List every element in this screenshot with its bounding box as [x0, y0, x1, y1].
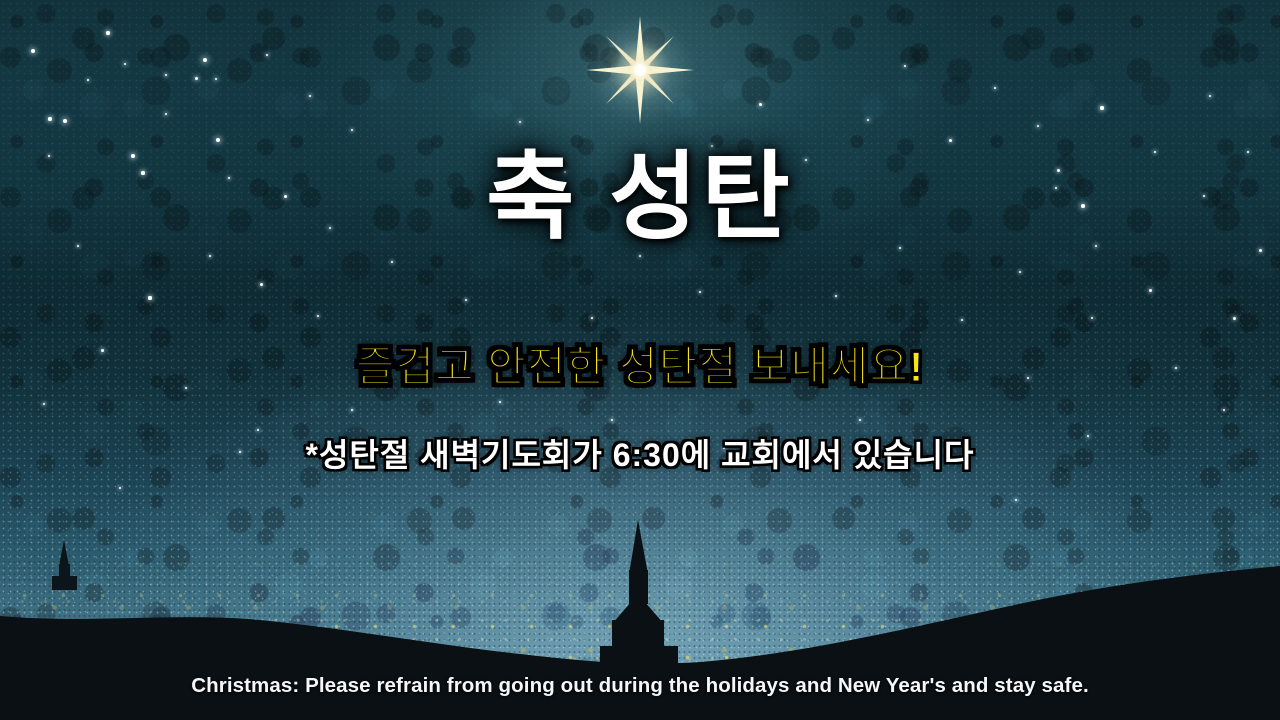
- church-steeple-silhouette: [600, 520, 678, 672]
- star-dot: [119, 487, 121, 489]
- star-dot: [639, 255, 641, 257]
- star-dot: [994, 87, 997, 90]
- distant-steeple-silhouette: [52, 540, 77, 590]
- star-dot: [904, 65, 907, 68]
- star-dot: [165, 74, 168, 77]
- star-dot: [759, 103, 762, 106]
- star-dot: [215, 78, 218, 81]
- star-dot: [591, 317, 594, 320]
- christmas-slide: 축 성탄 즐겁고 안전한 성탄절 보내세요! *성탄절 새벽기도회가 6:30에…: [0, 0, 1280, 720]
- star-dot: [391, 261, 394, 264]
- star-dot: [87, 79, 89, 81]
- star-dot: [260, 283, 263, 286]
- star-dot: [216, 138, 220, 142]
- star-dot: [351, 129, 353, 131]
- star-dot: [106, 31, 109, 34]
- star-dot: [43, 403, 46, 406]
- star-dot: [148, 296, 151, 299]
- star-dot: [48, 117, 51, 120]
- star-dot: [1091, 317, 1094, 320]
- star-dot: [1223, 409, 1225, 411]
- star-dot: [31, 49, 35, 53]
- star-dot: [266, 54, 269, 57]
- star-dot: [1015, 499, 1018, 502]
- star-dot: [499, 401, 501, 403]
- star-dot: [63, 119, 67, 123]
- star-dot: [835, 295, 837, 297]
- star-dot: [1259, 249, 1262, 252]
- star-dot: [351, 409, 354, 412]
- star-dot: [165, 113, 168, 116]
- star-dot: [961, 319, 963, 321]
- star-dot: [309, 95, 312, 98]
- star-dot: [1149, 289, 1152, 292]
- star-dot: [465, 299, 468, 302]
- star-dot: [859, 419, 862, 422]
- page-title: 축 성탄: [0, 148, 1280, 249]
- star-dot: [317, 315, 319, 317]
- star-dot: [949, 139, 952, 142]
- star-dot: [867, 119, 870, 122]
- star-dot: [611, 419, 614, 422]
- english-caption: Christmas: Please refrain from going out…: [0, 674, 1280, 698]
- star-dot: [209, 255, 212, 258]
- star-dot: [699, 291, 701, 293]
- star-dot: [203, 58, 207, 62]
- service-note: *성탄절 새벽기도회가 6:30에 교회에서 있습니다: [0, 430, 1280, 476]
- greeting-subtitle: 즐겁고 안전한 성탄절 보내세요!: [0, 333, 1280, 394]
- star-dot: [519, 121, 522, 124]
- star-dot: [1209, 95, 1212, 98]
- star-dot: [1233, 317, 1236, 320]
- star-dot: [124, 63, 127, 66]
- star-dot: [1019, 271, 1022, 274]
- star-dot: [1037, 125, 1040, 128]
- star-dot: [195, 77, 198, 80]
- star-dot: [1100, 106, 1103, 109]
